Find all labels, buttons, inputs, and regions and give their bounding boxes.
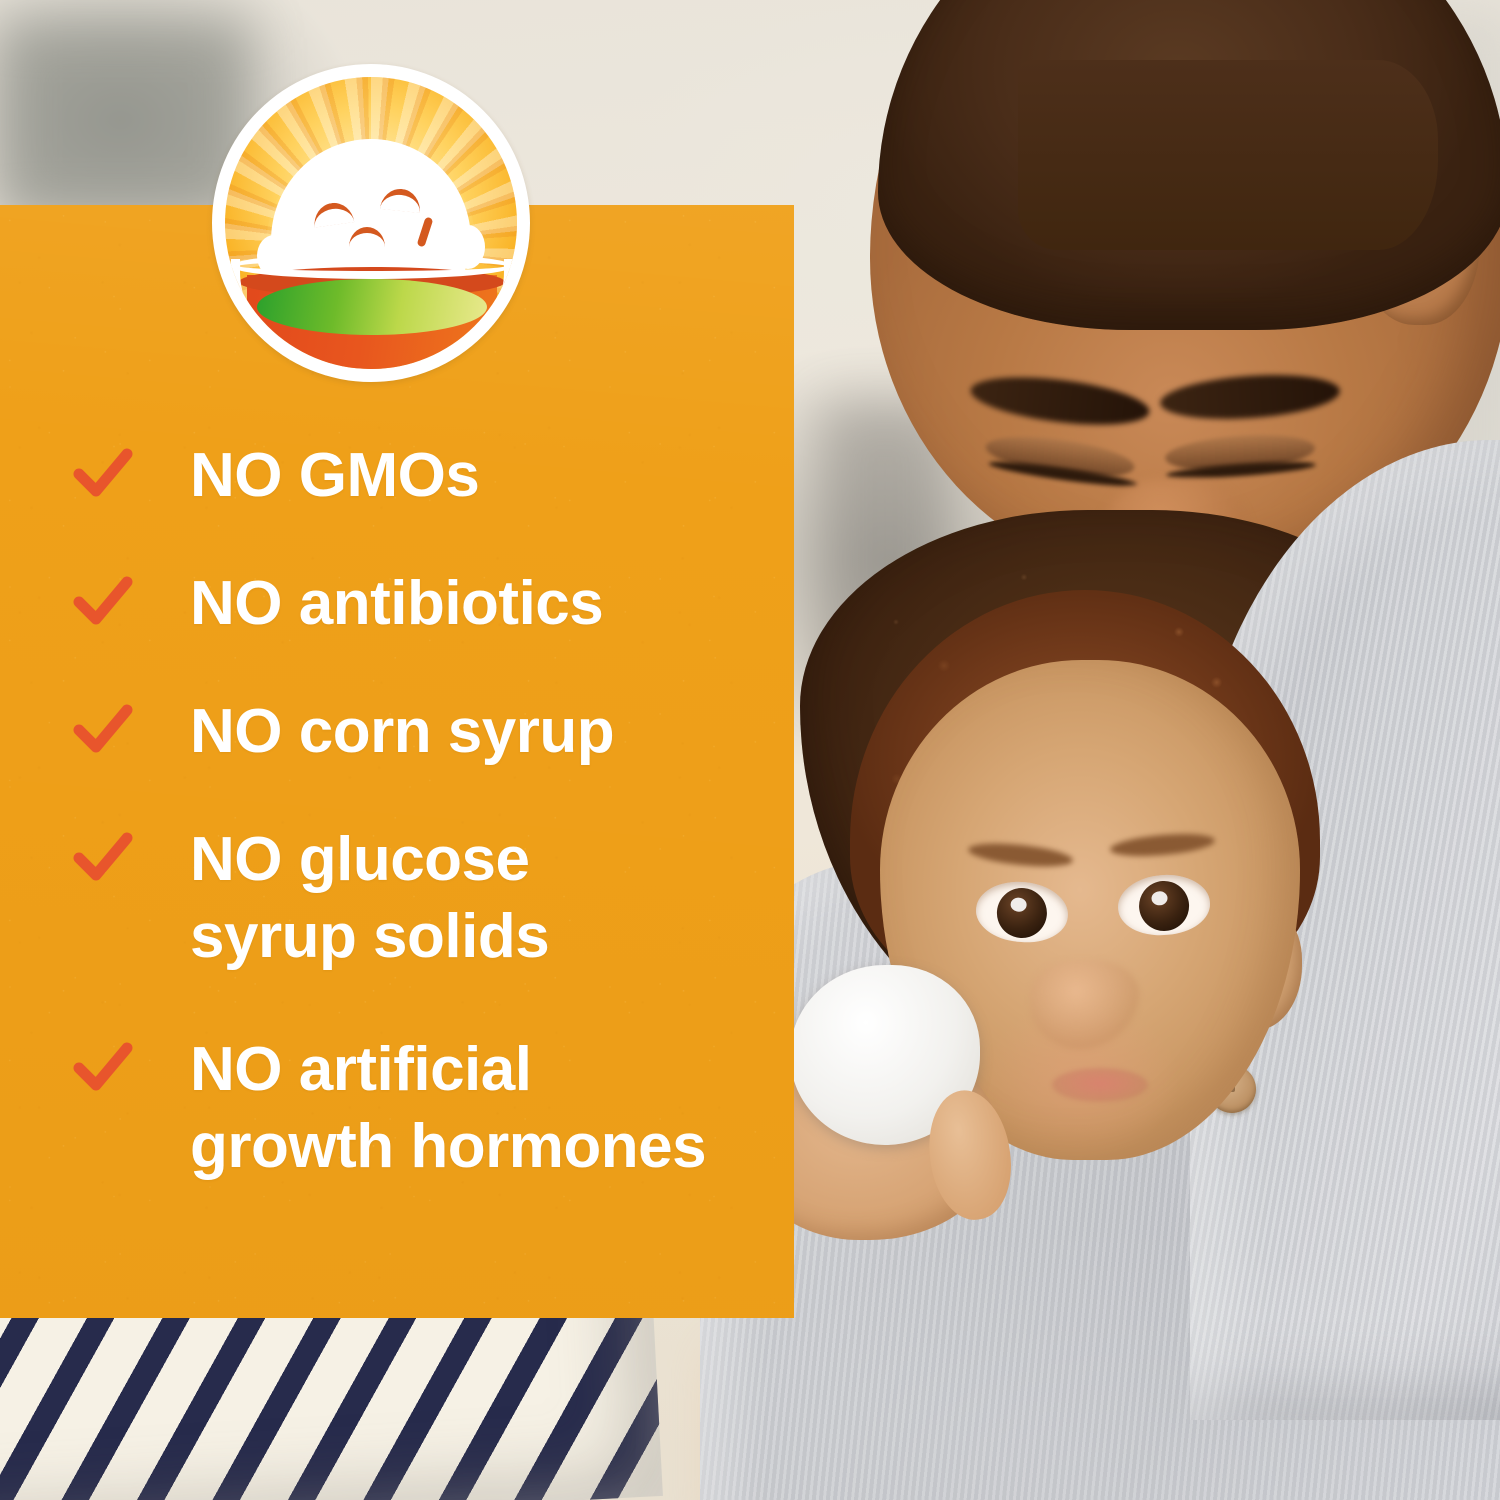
list-item: NO antibiotics xyxy=(72,565,603,642)
check-icon xyxy=(72,571,134,633)
list-item-label: NO GMOs xyxy=(190,437,479,514)
check-icon xyxy=(72,1037,134,1099)
check-icon xyxy=(72,443,134,505)
check-icon xyxy=(72,827,134,889)
baby-eyebrow-left xyxy=(967,840,1074,871)
list-item-label: NO glucose syrup solids xyxy=(190,821,549,975)
check-icon xyxy=(72,699,134,761)
baby-iris-left xyxy=(995,886,1049,940)
list-item: NO GMOs xyxy=(72,437,479,514)
list-item: NO artificial growth hormones xyxy=(72,1031,706,1185)
baby-eyebrow-right xyxy=(1109,830,1215,859)
list-item-label: NO corn syrup xyxy=(190,693,614,770)
list-item: NO glucose syrup solids xyxy=(72,821,549,975)
list-item-label: NO antibiotics xyxy=(190,565,603,642)
product-feature-image: NO GMOs NO antibiotics NO corn syrup xyxy=(0,0,1500,1500)
baby-figure xyxy=(810,600,1370,1500)
list-item: NO corn syrup xyxy=(72,693,614,770)
baby-lips xyxy=(1052,1068,1148,1102)
background-blur-shape xyxy=(0,20,250,220)
logo-bowl-rim-outline xyxy=(231,253,513,279)
list-item-label: NO artificial growth hormones xyxy=(190,1031,706,1185)
baby-iris-right xyxy=(1137,880,1190,933)
baby-eye-left xyxy=(974,878,1071,946)
logo-bowl xyxy=(239,267,505,369)
logo-bowl-food xyxy=(257,279,487,335)
happy-baby-sun-bowl-logo xyxy=(212,64,530,382)
logo-inner-disc xyxy=(225,77,517,369)
father-hair xyxy=(878,0,1500,330)
baby-nose xyxy=(1030,960,1140,1050)
baby-eye-right xyxy=(1116,872,1212,938)
